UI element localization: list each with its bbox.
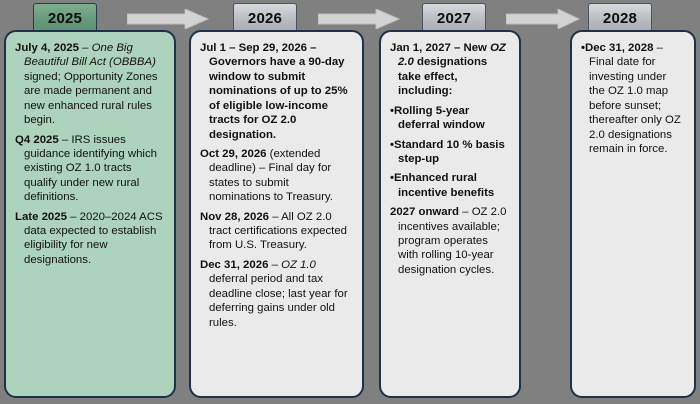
entry-body: Enhanced rural incentive benefits bbox=[394, 172, 494, 198]
timeline-entry: 2027 onward – OZ 2.0 incentives availabl… bbox=[390, 205, 510, 277]
entry-body: Governors have a 90-day window to submit… bbox=[209, 56, 348, 140]
timeline-entry: Late 2025 – 2020–2024 ACS data expected … bbox=[15, 210, 165, 268]
entry-date-label: Jul 1 – Sep 29, 2026 bbox=[200, 42, 307, 54]
timeline-entry: July 4, 2025 – One Big Beautiful Bill Ac… bbox=[15, 41, 165, 128]
entry-separator: – bbox=[67, 211, 80, 223]
timeline-entry: •Rolling 5-year deferral window bbox=[390, 104, 510, 133]
entry-separator: – bbox=[307, 42, 317, 54]
year-tab-label: 2026 bbox=[248, 10, 282, 27]
right-arrow-icon-3 bbox=[506, 9, 580, 34]
entry-body: Final date for investing under the OZ 1.… bbox=[589, 56, 681, 155]
timeline-entry: Jan 1, 2027 – New OZ 2.0 designations ta… bbox=[390, 41, 510, 99]
timeline-entry: Oct 29, 2026 (extended deadline) – Final… bbox=[200, 147, 353, 205]
entry-date-label: Late 2025 bbox=[15, 211, 67, 223]
timeline-entry: Nov 28, 2026 – All OZ 2.0 tract certific… bbox=[200, 210, 353, 253]
year-tab-2025[interactable]: 2025 bbox=[33, 3, 97, 33]
entry-separator: – bbox=[79, 42, 92, 54]
entry-date-label: Dec 31, 2028 bbox=[585, 42, 653, 54]
entry-date-label: Oct 29, 2026 bbox=[200, 148, 267, 160]
entry-date-label: Q4 2025 bbox=[15, 134, 59, 146]
entry-separator: – bbox=[269, 211, 281, 223]
year-tab-label: 2025 bbox=[48, 10, 82, 27]
timeline-entry: •Dec 31, 2028 – Final date for investing… bbox=[581, 41, 685, 156]
timeline-diagram: 2025 2026 2027 2028 July 4, 2025 – One B… bbox=[0, 0, 700, 404]
entry-body: Standard 10 % basis step-up bbox=[394, 139, 505, 165]
year-panel-2025: July 4, 2025 – One Big Beautiful Bill Ac… bbox=[4, 30, 176, 398]
entry-emphasis: OZ 1.0 bbox=[281, 259, 316, 271]
entry-date-label: Dec 31, 2026 bbox=[200, 259, 268, 271]
entry-date-label: 2027 onward bbox=[390, 206, 459, 218]
timeline-entry: Jul 1 – Sep 29, 2026 – Governors have a … bbox=[200, 41, 353, 142]
entry-body: deferral period and tax deadline close; … bbox=[209, 273, 348, 328]
entry-separator: – bbox=[459, 206, 472, 218]
year-tab-2028[interactable]: 2028 bbox=[588, 3, 652, 33]
entry-body: signed; Opportunity Zones are made perma… bbox=[24, 71, 158, 126]
year-panel-2028: •Dec 31, 2028 – Final date for investing… bbox=[570, 30, 696, 398]
entry-body: New bbox=[463, 42, 490, 54]
year-tab-label: 2028 bbox=[603, 10, 637, 27]
year-tab-label: 2027 bbox=[437, 10, 471, 27]
entry-separator: – bbox=[653, 42, 663, 54]
entry-date-label: July 4, 2025 bbox=[15, 42, 79, 54]
entry-separator: – bbox=[268, 259, 281, 271]
timeline-entry: •Standard 10 % basis step-up bbox=[390, 138, 510, 167]
timeline-entry: •Enhanced rural incentive benefits bbox=[390, 171, 510, 200]
entry-date-label: Nov 28, 2026 bbox=[200, 211, 269, 223]
year-tab-2026[interactable]: 2026 bbox=[233, 3, 297, 33]
year-panel-2026: Jul 1 – Sep 29, 2026 – Governors have a … bbox=[189, 30, 364, 398]
entry-body: Rolling 5-year deferral window bbox=[394, 105, 485, 131]
timeline-entry: Q4 2025 – IRS issues guidance identifyin… bbox=[15, 133, 165, 205]
year-tab-2027[interactable]: 2027 bbox=[422, 3, 486, 33]
entry-separator: – bbox=[451, 42, 464, 54]
entry-date-label: Jan 1, 2027 bbox=[390, 42, 451, 54]
timeline-entry: Dec 31, 2026 – OZ 1.0 deferral period an… bbox=[200, 258, 353, 330]
year-panel-2027: Jan 1, 2027 – New OZ 2.0 designations ta… bbox=[379, 30, 521, 398]
entry-separator: – bbox=[59, 134, 72, 146]
